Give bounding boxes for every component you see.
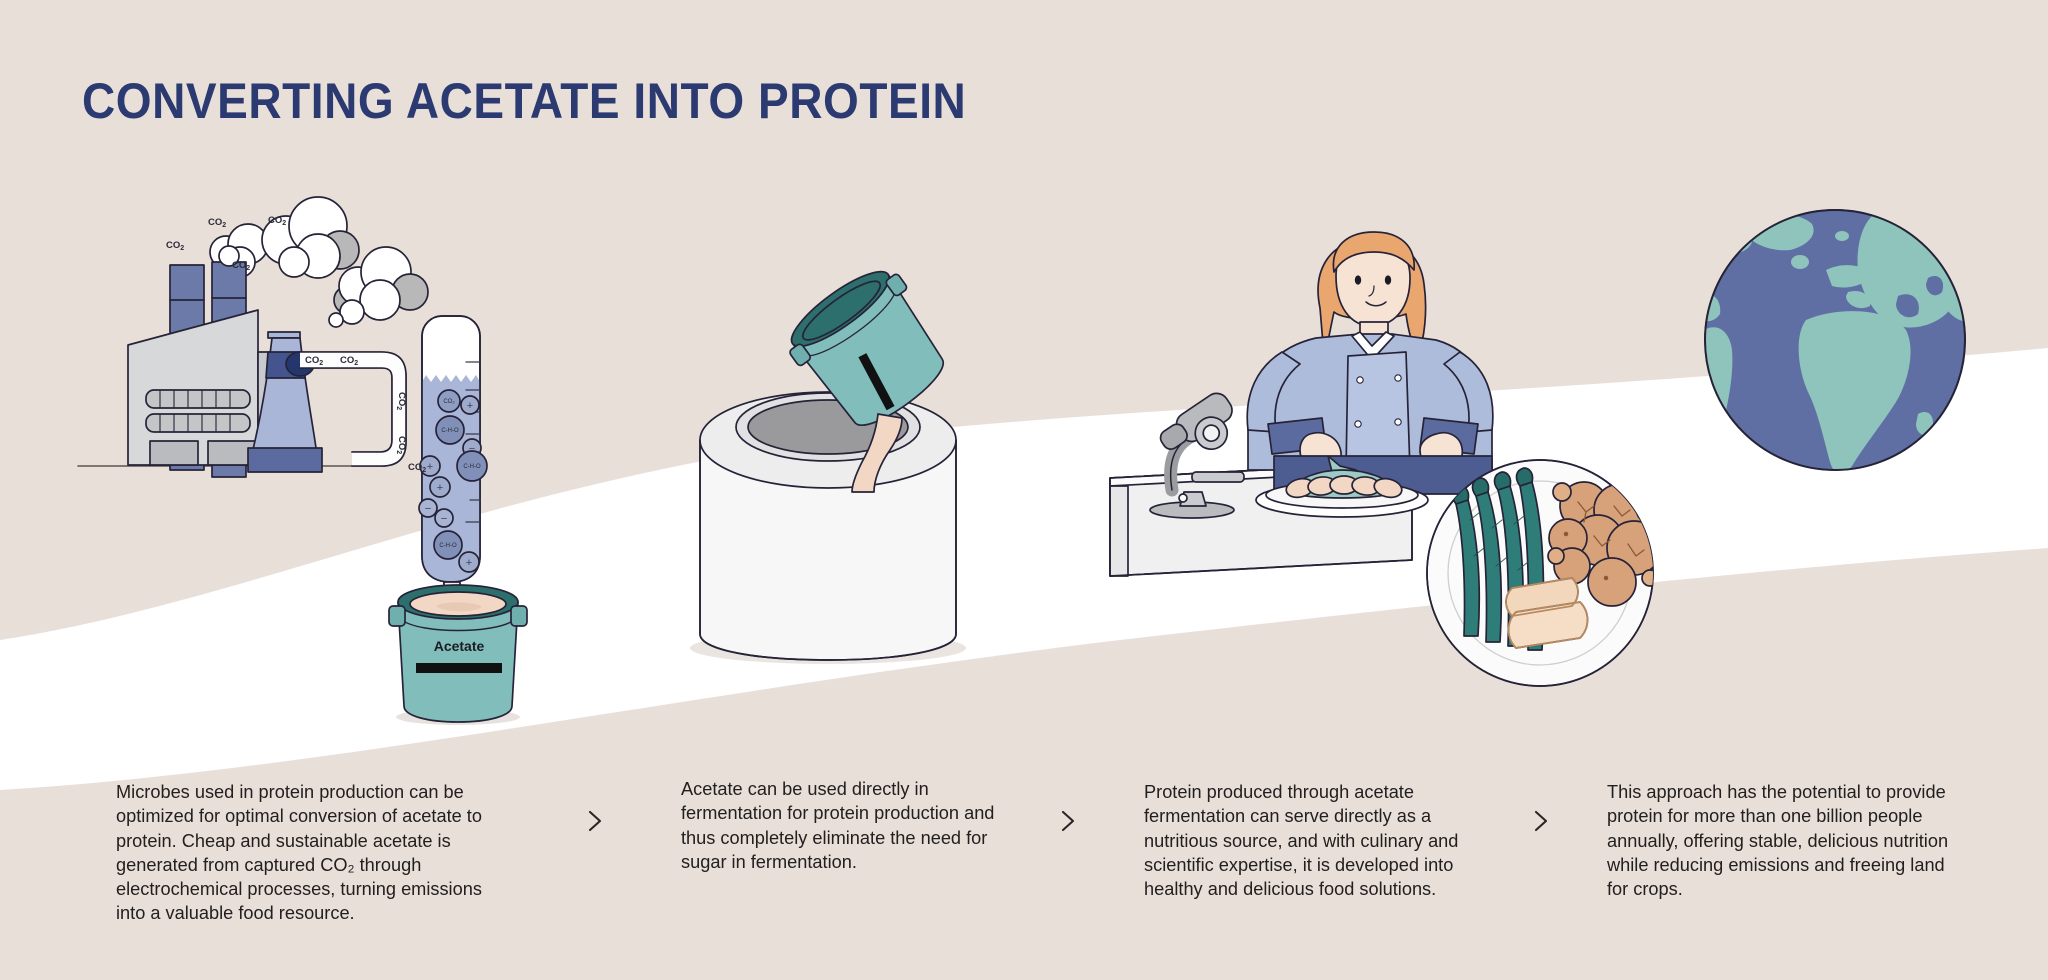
acetate-bucket: Acetate — [389, 585, 527, 725]
svg-text:C-H-O: C-H-O — [463, 464, 481, 470]
svg-text:−: − — [469, 443, 475, 455]
svg-text:C-H-O: C-H-O — [441, 428, 459, 434]
infographic-canvas: Acetate CO2 CO2 CO2 CO2 CO2 CO2 CO2 CO2 … — [0, 0, 2048, 980]
step-caption-4: This approach has the potential to provi… — [1607, 780, 1957, 901]
chevron-right-icon — [1528, 804, 1554, 838]
page-title: CONVERTING ACETATE INTO PROTEIN — [82, 72, 966, 130]
bread-slices — [1506, 578, 1588, 648]
culinary-scene — [1110, 232, 1661, 686]
svg-text:CO2: CO2 — [208, 217, 226, 229]
acetate-bucket-label: Acetate — [434, 638, 485, 654]
earth-globe — [1688, 210, 2003, 476]
svg-text:+: + — [466, 557, 472, 569]
svg-text:+: + — [467, 400, 473, 412]
svg-text:−: − — [425, 503, 431, 515]
fermentation-scene — [690, 256, 966, 664]
svg-text:C-H-O: C-H-O — [439, 543, 457, 549]
captions-row: Microbes used in protein production can … — [0, 780, 2048, 960]
factory-scene: Acetate CO2 CO2 CO2 CO2 CO2 CO2 CO2 CO2 … — [78, 197, 527, 725]
svg-text:CO₂: CO₂ — [443, 399, 455, 405]
svg-text:+: + — [437, 482, 443, 494]
step-caption-2: Acetate can be used directly in fermenta… — [681, 777, 996, 874]
svg-text:−: − — [441, 513, 447, 525]
svg-text:+: + — [427, 461, 433, 473]
chevron-right-icon — [1055, 804, 1081, 838]
food-plate-closeup — [1427, 460, 1661, 686]
chevron-right-icon — [582, 804, 608, 838]
chef — [1247, 232, 1493, 494]
svg-text:CO2: CO2 — [166, 240, 184, 252]
step-caption-3: Protein produced through acetate ferment… — [1144, 780, 1489, 901]
step-caption-1: Microbes used in protein production can … — [116, 780, 516, 926]
